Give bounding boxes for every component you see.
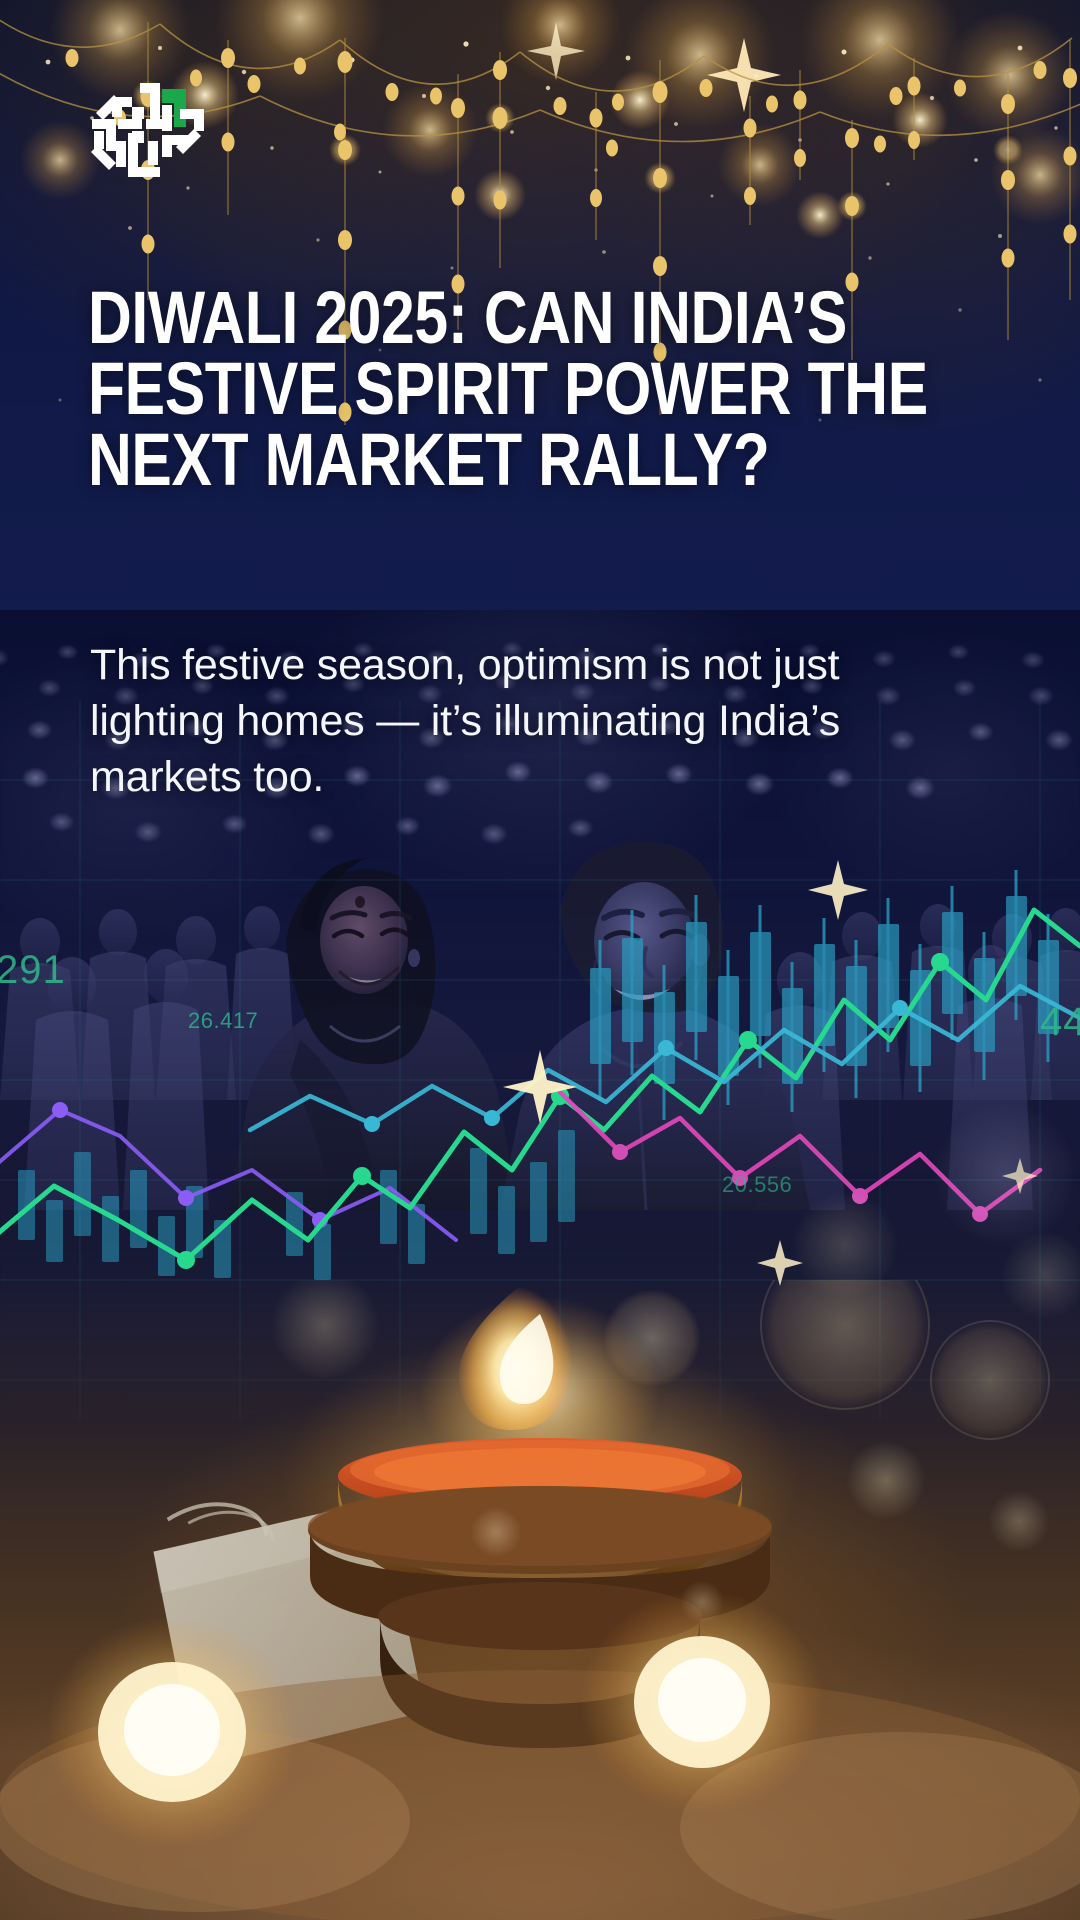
diya-lamp-illustration [0, 1280, 1080, 1920]
subtitle-line: markets too. [90, 750, 1010, 806]
page-title: DIWALI 2025: CAN INDIA’S FESTIVE SPIRIT … [88, 282, 744, 495]
foreground-diya-right [580, 1590, 824, 1814]
chart-annotation-20556: 20.556 [722, 1172, 792, 1198]
subtitle-text: This festive season, optimism is not jus… [90, 638, 1010, 806]
headline-line: DIWALI 2025: CAN INDIA’S [88, 282, 744, 353]
chart-annotation-44: 44 [1040, 1000, 1080, 1045]
chart-annotation-26417: 26.417 [188, 1008, 258, 1034]
subtitle-line: lighting homes — it’s illuminating India… [90, 694, 1010, 750]
diya-foreground-scene [0, 1280, 1080, 1920]
headline-line: FESTIVE SPIRIT POWER THE [88, 353, 744, 424]
subtitle-line: This festive season, optimism is not jus… [90, 638, 1010, 694]
brand-logo[interactable] [88, 75, 208, 185]
rangoli-star-emblem-icon [88, 75, 208, 187]
poster-canvas: 291 26.417 20.556 44 [0, 0, 1080, 1920]
headline-line: NEXT MARKET RALLY? [88, 424, 744, 495]
foreground-diya-left [46, 1616, 298, 1848]
chart-annotation-291: 291 [0, 948, 66, 993]
